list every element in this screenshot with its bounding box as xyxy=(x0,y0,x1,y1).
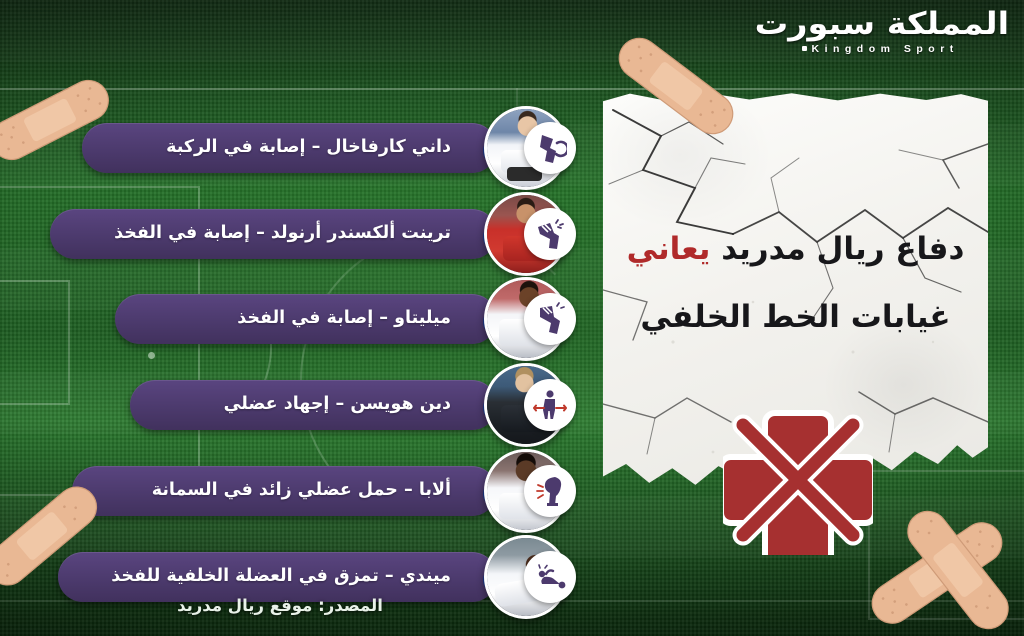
thigh-bandage-icon-button[interactable] xyxy=(524,208,576,260)
row-label-4: دين هويسن – إجهاد عضلي xyxy=(224,396,451,414)
row-pill-3[interactable]: ميليتاو – إصابة في الفخذ xyxy=(115,294,497,344)
row-pill-1[interactable]: داني كارفاخال – إصابة في الركبة xyxy=(82,123,497,173)
source-label: المصدر: موقع ريال مدريد xyxy=(0,596,560,615)
muscle-strain-icon-button[interactable] xyxy=(524,379,576,431)
list-item[interactable]: دين هويسن – إجهاد عضلي xyxy=(0,374,560,436)
calf-pain-icon-button[interactable] xyxy=(524,465,576,517)
brand-logo: المملكة سبورت Kingdom Sport xyxy=(764,8,1000,55)
knee-injury-icon xyxy=(533,131,567,165)
thigh-bandage-icon xyxy=(533,217,567,251)
fallen-player-icon xyxy=(533,560,567,594)
calf-pain-icon xyxy=(533,474,567,508)
row-label-6: ميندي – تمزق في العضلة الخلفية للفخذ xyxy=(111,568,451,586)
leg-bandage-icon-button[interactable] xyxy=(524,293,576,345)
list-item[interactable]: ترينت ألكسندر أرنولد – إصابة في الفخذ xyxy=(0,203,560,265)
row-pill-6[interactable]: ميندي – تمزق في العضلة الخلفية للفخذ xyxy=(58,552,497,602)
infographic-canvas: المملكة سبورت Kingdom Sport xyxy=(0,0,1024,636)
headline-accent-word: يعاني xyxy=(627,231,711,267)
brand-logo-arabic: المملكة سبورت xyxy=(755,8,1010,41)
row-label-3: ميليتاو – إصابة في الفخذ xyxy=(237,310,451,328)
row-pill-5[interactable]: ألابا – حمل عضلي زائد في السمانة xyxy=(72,466,497,516)
row-label-2: ترينت ألكسندر أرنولد – إصابة في الفخذ xyxy=(114,225,451,243)
headline-line-2: غيابات الخط الخلفي xyxy=(603,298,988,337)
list-item[interactable]: ميليتاو – إصابة في الفخذ xyxy=(0,288,560,350)
row-label-1: داني كارفاخال – إصابة في الركبة xyxy=(166,139,451,157)
brand-logo-english: Kingdom Sport xyxy=(764,43,1000,55)
row-pill-4[interactable]: دين هويسن – إجهاد عضلي xyxy=(130,380,497,430)
headline-block: دفاع ريال مدريد يعاني غيابات الخط الخلفي xyxy=(603,230,988,337)
headline-line-1: دفاع ريال مدريد يعاني xyxy=(603,230,988,269)
row-label-5: ألابا – حمل عضلي زائد في السمانة xyxy=(152,482,451,500)
muscle-strain-icon xyxy=(533,388,567,422)
knee-injury-icon-button[interactable] xyxy=(524,122,576,174)
medical-cross-cancelled-icon xyxy=(723,405,873,555)
row-pill-2[interactable]: ترينت ألكسندر أرنولد – إصابة في الفخذ xyxy=(50,209,497,259)
leg-bandage-icon xyxy=(533,302,567,336)
